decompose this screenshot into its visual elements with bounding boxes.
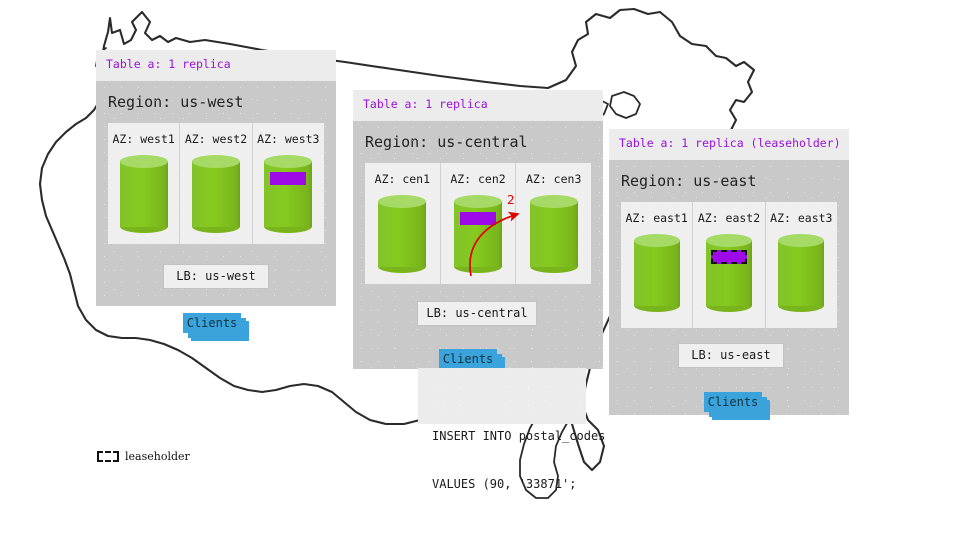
az-label: AZ: west2 — [180, 132, 251, 146]
az-label: AZ: east3 — [766, 211, 837, 225]
region-panel-us-central: Table a: 1 replica Region: us-central AZ… — [353, 90, 603, 369]
az-row: AZ: east1 AZ: east2 — [621, 202, 837, 328]
region-table-header: Table a: 1 replica — [353, 90, 603, 121]
node-cylinder-cen1[interactable] — [378, 195, 426, 273]
cylinder-top — [634, 234, 680, 247]
sql-statement-box: INSERT INTO postal_codes VALUES (90, '33… — [418, 368, 586, 424]
az-label: AZ: west1 — [108, 132, 179, 146]
node-cylinder-cen2[interactable] — [454, 195, 502, 273]
az-label: AZ: cen1 — [365, 172, 440, 186]
az-cell-east1[interactable]: AZ: east1 — [621, 202, 693, 328]
clients-label: Clients — [187, 316, 238, 330]
node-cylinder-west3[interactable] — [264, 155, 312, 233]
node-cylinder-west2[interactable] — [192, 155, 240, 233]
diagram-canvas: Table a: 1 replica Region: us-west AZ: w… — [0, 0, 960, 540]
az-label: AZ: cen3 — [516, 172, 591, 186]
legend-label: leaseholder — [125, 450, 190, 463]
az-cell-east2[interactable]: AZ: east2 — [693, 202, 765, 328]
cylinder-body — [778, 240, 824, 306]
node-cylinder-east3[interactable] — [778, 234, 824, 312]
az-cell-cen3[interactable]: AZ: cen3 — [516, 163, 591, 284]
node-cylinder-east2[interactable] — [706, 234, 752, 312]
cylinder-top — [530, 195, 578, 208]
replica-block[interactable] — [270, 172, 306, 185]
region-panel-us-west: Table a: 1 replica Region: us-west AZ: w… — [96, 50, 336, 306]
region-panel-us-east: Table a: 1 replica (leaseholder) Region:… — [609, 129, 849, 415]
cylinder-body — [120, 161, 168, 227]
clients-button[interactable]: Clients — [439, 349, 497, 369]
node-cylinder-east1[interactable] — [634, 234, 680, 312]
cylinder-body — [530, 201, 578, 267]
load-balancer-us-east[interactable]: LB: us-east — [678, 343, 784, 368]
panel-texture — [418, 368, 586, 424]
region-title: Region: us-central — [353, 121, 603, 163]
cylinder-body — [454, 201, 502, 267]
cylinder-body — [378, 201, 426, 267]
replica-block-leaseholder[interactable] — [711, 250, 747, 264]
load-balancer-us-west[interactable]: LB: us-west — [163, 264, 269, 289]
az-row: AZ: cen1 AZ: cen2 — [365, 163, 591, 284]
cylinder-body — [264, 161, 312, 227]
az-row: AZ: west1 AZ: west2 AZ — [108, 123, 324, 244]
clients-label: Clients — [443, 352, 494, 366]
sql-line-2: VALUES (90, '33871'; — [432, 476, 586, 492]
region-title: Region: us-west — [96, 81, 336, 123]
clients-button[interactable]: Clients — [704, 392, 762, 412]
az-label: AZ: west3 — [253, 132, 324, 146]
cylinder-top — [378, 195, 426, 208]
az-cell-west2[interactable]: AZ: west2 — [180, 123, 252, 244]
az-cell-cen1[interactable]: AZ: cen1 — [365, 163, 441, 284]
clients-stack-us-east[interactable]: Clients — [704, 392, 770, 420]
clients-button[interactable]: Clients — [183, 313, 241, 333]
node-cylinder-cen3[interactable] — [530, 195, 578, 273]
load-balancer-us-central[interactable]: LB: us-central — [417, 301, 537, 326]
az-label: AZ: east1 — [621, 211, 692, 225]
clients-stack-us-west[interactable]: Clients — [183, 313, 249, 341]
az-cell-west1[interactable]: AZ: west1 — [108, 123, 180, 244]
lb-label: LB: us-west — [176, 269, 255, 283]
legend: leaseholder — [97, 450, 190, 463]
az-cell-east3[interactable]: AZ: east3 — [766, 202, 837, 328]
region-table-header: Table a: 1 replica — [96, 50, 336, 81]
dashed-rect-icon — [97, 451, 119, 462]
lb-label: LB: us-central — [426, 306, 527, 320]
replica-block[interactable] — [460, 212, 496, 225]
node-cylinder-west1[interactable] — [120, 155, 168, 233]
region-body: Region: us-central AZ: cen1 AZ: cen2 — [353, 121, 603, 369]
az-cell-west3[interactable]: AZ: west3 — [253, 123, 324, 244]
cylinder-top — [454, 195, 502, 208]
region-body: Region: us-west AZ: west1 AZ: west2 — [96, 81, 336, 306]
az-label: AZ: cen2 — [441, 172, 516, 186]
region-body: Region: us-east AZ: east1 AZ: east2 — [609, 160, 849, 415]
region-title: Region: us-east — [609, 160, 849, 202]
clients-label: Clients — [708, 395, 759, 409]
lb-label: LB: us-east — [691, 348, 770, 362]
cylinder-top — [264, 155, 312, 168]
cylinder-top — [120, 155, 168, 168]
cylinder-top — [706, 234, 752, 247]
region-table-header: Table a: 1 replica (leaseholder) — [609, 129, 849, 160]
cylinder-top — [778, 234, 824, 247]
az-cell-cen2[interactable]: AZ: cen2 — [441, 163, 517, 284]
az-label: AZ: east2 — [693, 211, 764, 225]
arrow-step-label: 2 — [507, 193, 515, 207]
sql-line-1: INSERT INTO postal_codes — [432, 428, 586, 444]
cylinder-body — [192, 161, 240, 227]
cylinder-top — [192, 155, 240, 168]
cylinder-body — [634, 240, 680, 306]
